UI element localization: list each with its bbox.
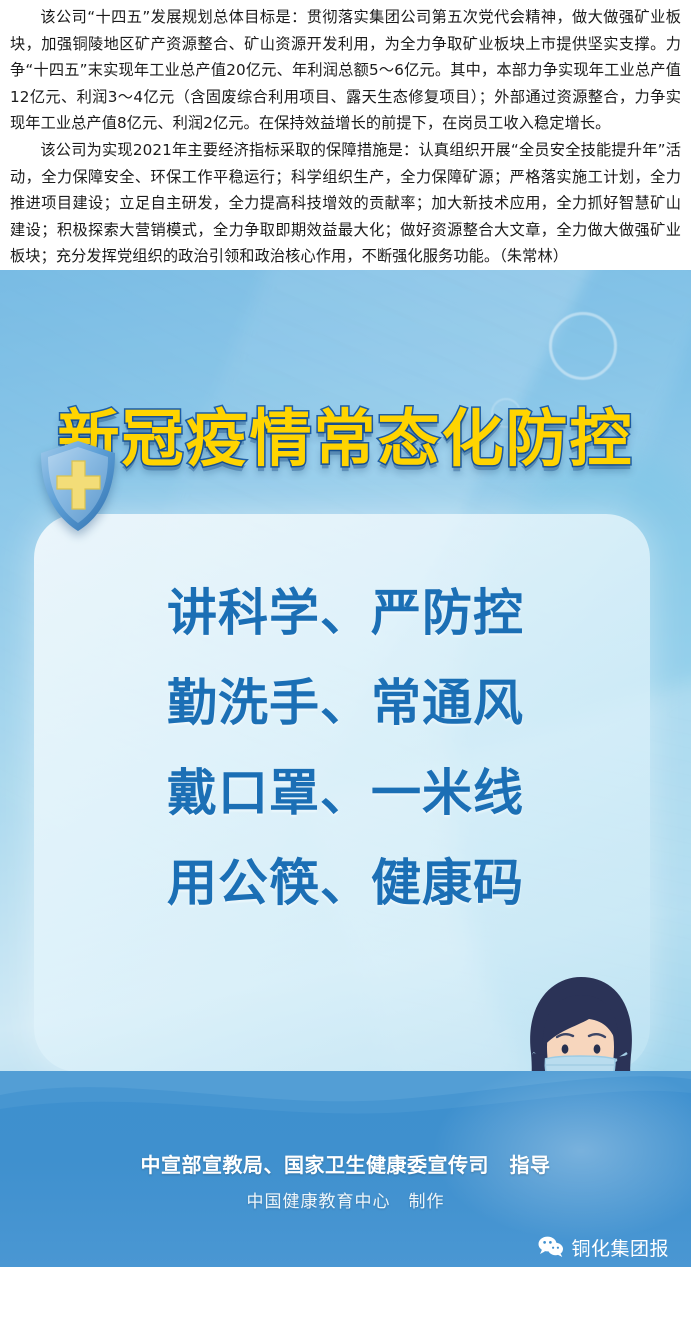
slogan-list: 讲科学、严防控 勤洗手、常通风 戴口罩、一米线 用公筷、健康码 [0, 568, 691, 928]
article-body: 该公司“十四五”发展规划总体目标是：贯彻落实集团公司第五次党代会精神，做大做强矿… [0, 0, 691, 270]
decorative-circle-icon [549, 312, 617, 380]
credit-producer: 中国健康教育中心 制作 [0, 1187, 691, 1212]
covid-prevention-poster: 新冠疫情常态化防控 讲科学、严防控 勤洗手、常通风 戴口罩、一米线 用公筷、健康… [0, 270, 691, 1267]
article-paragraph: 该公司为实现2021年主要经济指标采取的保障措施是：认真组织开展“全员安全技能提… [10, 137, 681, 270]
wechat-account-name: 铜化集团报 [571, 1234, 669, 1261]
wechat-account-badge[interactable]: 铜化集团报 [0, 1234, 669, 1261]
shield-cross-icon [36, 438, 120, 534]
footer-credits: 中宣部宣教局、国家卫生健康委宣传司 指导 中国健康教育中心 制作 铜化集团报 [0, 1149, 691, 1267]
credit-guidance: 中宣部宣教局、国家卫生健康委宣传司 指导 [0, 1149, 691, 1178]
slogan-line: 讲科学、严防控 [0, 568, 691, 658]
article-paragraph: 该公司“十四五”发展规划总体目标是：贯彻落实集团公司第五次党代会精神，做大做强矿… [10, 4, 681, 137]
slogan-line: 勤洗手、常通风 [0, 658, 691, 748]
wechat-icon [538, 1236, 564, 1258]
slogan-line: 戴口罩、一米线 [0, 748, 691, 838]
slogan-line: 用公筷、健康码 [0, 838, 691, 928]
